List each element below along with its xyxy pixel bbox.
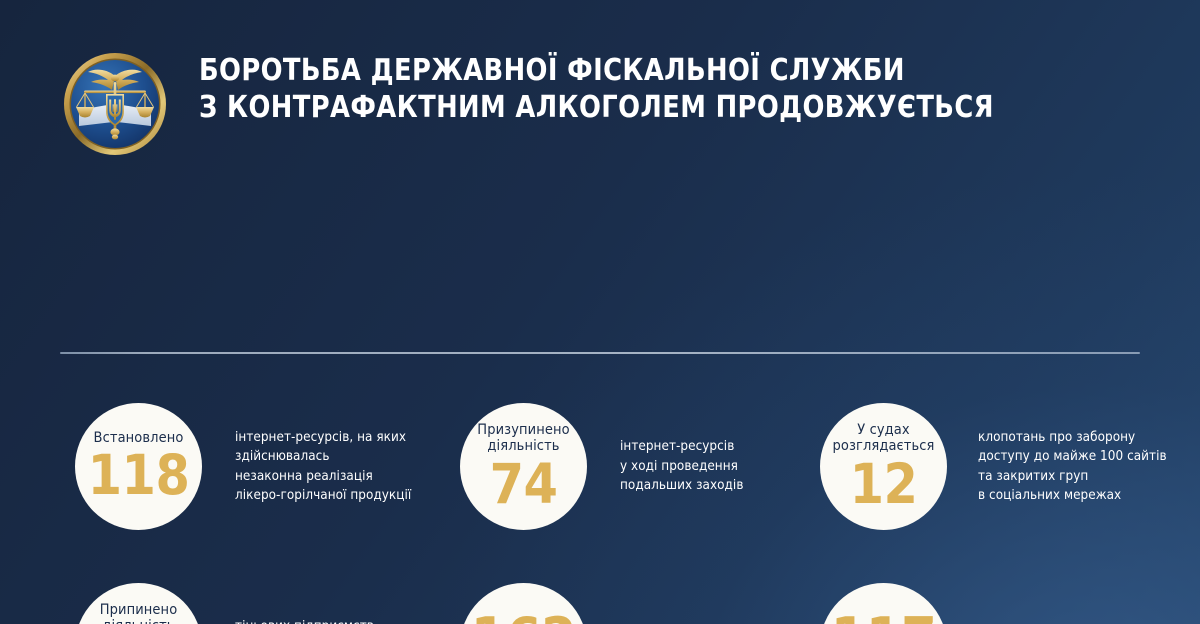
stat-item: Призупинено діяльність 74 інтернет-ресур…: [460, 403, 743, 530]
stat-description: інтернет-ресурсів у ході проведення пода…: [620, 437, 743, 495]
infographic-poster: БОРОТЬБА ДЕРЖАВНОЇ ФІСКАЛЬНОЇ СЛУЖБИ З К…: [0, 0, 1200, 624]
stat-bubble: Встановлено 118: [75, 403, 202, 530]
state-fiscal-service-emblem: [63, 52, 167, 156]
stat-description: клопотань про заборону доступу до майже …: [978, 428, 1167, 506]
stat-bubble: У судах розглядається 12: [820, 403, 947, 530]
stat-item: 162 тонни спирту вилучено: [460, 583, 730, 624]
stat-caption: Припинено діяльність: [100, 602, 178, 624]
stat-caption: У судах розглядається: [832, 422, 934, 455]
stat-value: 12: [850, 456, 918, 512]
page-title-line-1: БОРОТЬБА ДЕРЖАВНОЇ ФІСКАЛЬНОЇ СЛУЖБИ: [199, 52, 1083, 89]
stat-bubble: 162 тонни: [460, 583, 587, 624]
stat-item: 117 тонн лікеро-горілчаної продукції вил…: [820, 583, 1107, 624]
stat-item: У судах розглядається 12 клопотань про з…: [820, 403, 1167, 530]
stat-value: 74: [490, 456, 558, 512]
stat-item: Припинено діяльність 12 тіньових підприє…: [75, 583, 398, 624]
header: БОРОТЬБА ДЕРЖАВНОЇ ФІСКАЛЬНОЇ СЛУЖБИ З К…: [0, 0, 1200, 176]
stat-value: 117: [831, 612, 937, 624]
divider-top: [60, 352, 1140, 354]
stat-caption: Призупинено діяльність: [477, 422, 569, 455]
stat-description: інтернет-ресурсів, на яких здійснювалась…: [235, 428, 411, 506]
stat-value: 162: [471, 612, 577, 624]
stat-item: Встановлено 118 інтернет-ресурсів, на як…: [75, 403, 411, 530]
page-title: БОРОТЬБА ДЕРЖАВНОЇ ФІСКАЛЬНОЇ СЛУЖБИ З К…: [199, 52, 1083, 126]
stats-grid: Встановлено 118 інтернет-ресурсів, на як…: [0, 374, 1200, 624]
stat-bubble: Припинено діяльність 12: [75, 583, 202, 624]
page-title-line-2: З КОНТРАФАКТНИМ АЛКОГОЛЕМ ПРОДОВЖУЄТЬСЯ: [199, 89, 1083, 126]
stat-value: 118: [88, 447, 190, 503]
stat-description: тіньових підприємств, які виготовляли ко…: [235, 617, 398, 624]
stat-bubble: Призупинено діяльність 74: [460, 403, 587, 530]
stat-bubble: 117 тонн: [820, 583, 947, 624]
